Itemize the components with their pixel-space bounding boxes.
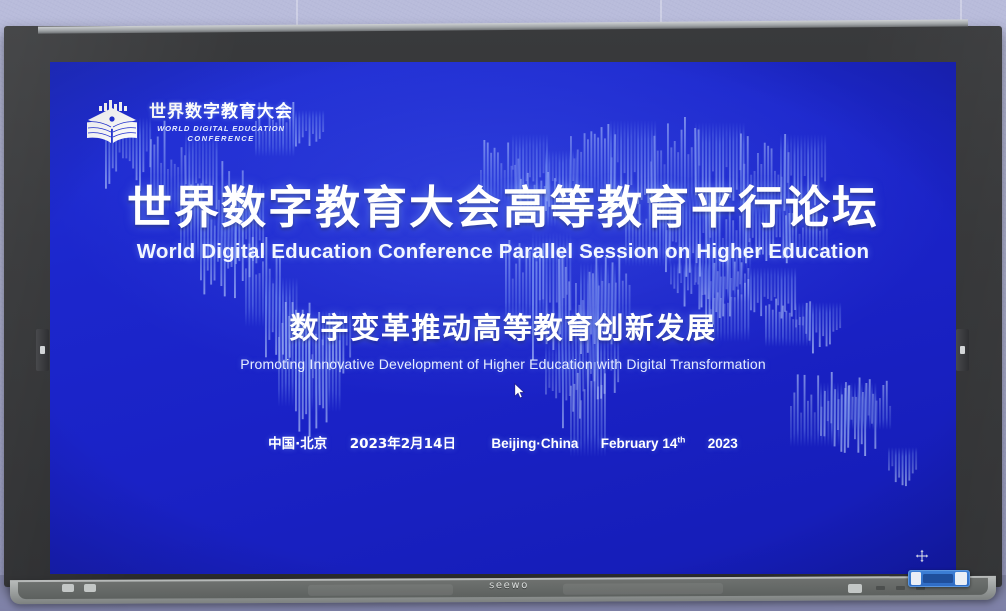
move-resize-handle[interactable] [915,549,929,563]
side-button-left[interactable] [62,584,74,592]
side-handle-slot-icon [40,346,45,354]
headline-cn: 世界数字教育大会高等教育平行论坛 [50,184,956,233]
meta-date-en-ordinal: th [677,435,685,445]
device-brand-label: seewo [459,580,559,591]
meta-date-en-year: 2023 [708,436,738,451]
meta-date-en-monthday: February 14 [601,436,678,451]
logo-title-cn: 世界数字教育大会 [149,104,293,121]
conference-logo-text: 世界数字教育大会 WORLD DIGITAL EDUCATION CONFERE… [149,104,293,142]
speaker-grille-right [563,583,723,595]
side-handle-slot-icon [960,346,965,354]
logo-title-en1: WORLD DIGITAL EDUCATION [157,125,285,133]
meta-location-cn: 中国·北京 [268,436,327,452]
interactive-display: 世界数字教育大会 WORLD DIGITAL EDUCATION CONFERE… [4,26,1002,593]
subheadline-en: Promoting Innovative Development of High… [50,356,956,372]
power-button[interactable] [848,584,862,593]
mouse-cursor-icon [514,383,525,399]
taskbar-center-strip[interactable] [923,574,953,583]
speaker-grille-left [308,584,453,596]
conference-logo: 世界数字教育大会 WORLD DIGITAL EDUCATION CONFERE… [84,100,293,146]
slide-meta-line: 中国·北京 2023年2月14日 Beijing·China February … [50,432,956,452]
meta-location-en: Beijing·China [491,436,578,451]
open-book-skyline-icon [84,100,140,146]
meta-date-cn: 2023年2月14日 [350,436,456,452]
side-button-left-2[interactable] [84,584,96,592]
slide-subheadline: 数字变革推动高等教育创新发展 Promoting Innovative Deve… [50,305,956,372]
display-screen[interactable]: 世界数字教育大会 WORLD DIGITAL EDUCATION CONFERE… [50,62,956,574]
slide-headline: 世界数字教育大会高等教育平行论坛 World Digital Education… [50,184,956,264]
floating-taskbar-widget[interactable] [908,570,970,587]
side-handle-right[interactable] [956,329,969,371]
side-handle-left[interactable] [36,329,49,371]
taskbar-icon-left[interactable] [911,572,921,585]
room-photo-scene: 世界数字教育大会 WORLD DIGITAL EDUCATION CONFERE… [0,0,1006,611]
logo-title-en2: CONFERENCE [187,135,254,143]
usb-port [896,586,905,590]
usb-port [876,586,885,590]
headline-en: World Digital Education Conference Paral… [50,240,956,264]
taskbar-icon-right[interactable] [955,572,967,585]
subheadline-cn: 数字变革推动高等教育创新发展 [50,305,956,347]
